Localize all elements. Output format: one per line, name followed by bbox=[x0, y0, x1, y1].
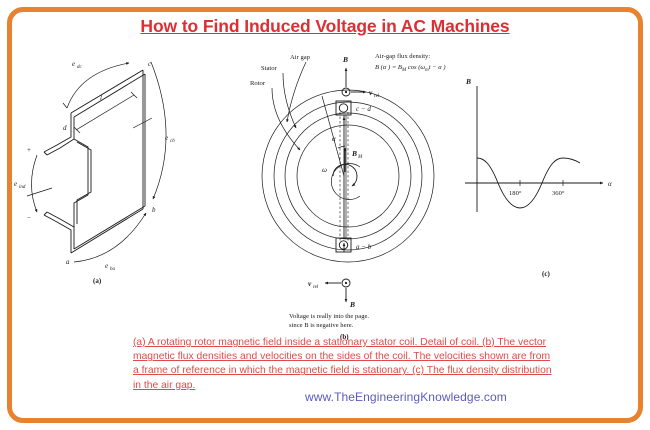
length-tick-right bbox=[131, 92, 137, 98]
coil-lead-bottom-cap bbox=[44, 212, 47, 215]
coil-lead-top-inner bbox=[47, 117, 74, 155]
label-omega: ω bbox=[322, 166, 327, 174]
label-conductor-cd: c − d bbox=[356, 105, 371, 113]
screenshot-root: How to Find Induced Voltage in AC Machin… bbox=[0, 0, 650, 430]
conductor-circle-cd bbox=[339, 104, 347, 112]
tick-label-180: 180° bbox=[509, 190, 522, 197]
label-B-bottom: B bbox=[349, 300, 355, 309]
leader-stator bbox=[283, 73, 296, 128]
coil-notch bbox=[74, 139, 88, 227]
label-B-top: B bbox=[342, 55, 348, 64]
axis-label-B: B bbox=[465, 77, 471, 86]
label-BM: B bbox=[351, 149, 357, 158]
tick-cb-side bbox=[133, 118, 152, 128]
label-air-gap: Air gap bbox=[290, 54, 311, 61]
coil-lead-bottom bbox=[44, 215, 71, 253]
label-terminal-plus: + bbox=[27, 146, 31, 154]
label-e-dc-sub: dc bbox=[77, 65, 83, 70]
label-e-cb-sub: cb bbox=[170, 139, 175, 144]
axis-label-alpha: α bbox=[608, 180, 612, 188]
arrow-arc-ecb bbox=[151, 62, 166, 199]
label-e-dc: e bbox=[72, 60, 75, 68]
label-corner-c: c bbox=[148, 60, 152, 68]
label-BM-sub: M bbox=[357, 155, 363, 160]
flux-density-title: Air-gap flux density: bbox=[375, 53, 430, 60]
label-corner-b: b bbox=[152, 206, 156, 214]
watermark-url: www.TheEngineeringKnowledge.com bbox=[305, 390, 507, 404]
arrow-arc-eind bbox=[32, 155, 38, 212]
label-e-cb: e bbox=[165, 134, 168, 142]
label-conductor-ab: a − b bbox=[356, 243, 372, 251]
tick-label-360: 360° bbox=[552, 190, 565, 197]
dot-center-top bbox=[345, 91, 347, 93]
panel-b-machine-cross-section: Air gap Stator Rotor Air-gap flux densit… bbox=[250, 53, 446, 341]
label-rotor: Rotor bbox=[250, 80, 266, 87]
coil-segment-dc bbox=[71, 70, 143, 113]
coil-segment-ba-inner bbox=[74, 206, 145, 249]
formula-part-end: t − α ) bbox=[429, 64, 446, 71]
label-vrel-bottom-sub: rel bbox=[313, 285, 319, 290]
svg-text:B (α ) = BM cos (ωmt − α ): B (α ) = BM cos (ωmt − α ) bbox=[375, 64, 446, 73]
flux-density-formula: B (α ) = BM cos (ωmt − α ) bbox=[375, 64, 446, 73]
figure-caption: (a) A rotating rotor magnetic field insi… bbox=[133, 336, 553, 393]
label-alpha: α bbox=[332, 135, 336, 143]
conductor-circle-ab bbox=[339, 241, 347, 249]
label-vrel-bottom: v bbox=[308, 279, 312, 288]
label-vrel-top-sub: rel bbox=[374, 94, 380, 99]
coil-lead-bottom-inner bbox=[47, 212, 74, 249]
label-length-l: l bbox=[100, 94, 102, 102]
coil-notch-inner bbox=[77, 142, 91, 224]
dot-center-bottom bbox=[345, 282, 347, 284]
formula-part-main: B (α ) = B bbox=[375, 64, 402, 71]
coil-lead-top-cap bbox=[44, 152, 47, 155]
coil-lead-top bbox=[44, 113, 71, 152]
label-terminal-minus: − bbox=[27, 214, 31, 222]
tick-eind-side bbox=[27, 188, 52, 196]
label-vrel-top: v bbox=[369, 88, 373, 97]
note-line-1: Voltage is really into the page. bbox=[289, 313, 369, 320]
label-e-ind-sub: ind bbox=[19, 185, 26, 190]
panel-a-id: (a) bbox=[93, 277, 102, 285]
formula-part-mid: cos (ω bbox=[406, 64, 425, 71]
label-e-ba: e bbox=[105, 262, 108, 270]
panel-c-flux-waveform: B α 180° 360° (c) bbox=[465, 77, 612, 278]
label-corner-d: d bbox=[63, 124, 67, 132]
label-corner-a: a bbox=[66, 258, 70, 266]
label-e-ba-sub: ba bbox=[110, 267, 116, 272]
label-e-ind: e bbox=[14, 180, 17, 188]
arrow-arc-edc-tail bbox=[63, 103, 67, 108]
length-dimension-line bbox=[76, 95, 134, 130]
coil-segment-ba bbox=[71, 209, 143, 253]
note-line-2: since B is negative here. bbox=[289, 322, 354, 329]
panel-a-coil-diagram: e dc e cb e ba e ind l a b c d + − (a) bbox=[14, 60, 175, 285]
panel-c-id: (c) bbox=[542, 270, 550, 278]
label-stator: Stator bbox=[261, 65, 278, 72]
